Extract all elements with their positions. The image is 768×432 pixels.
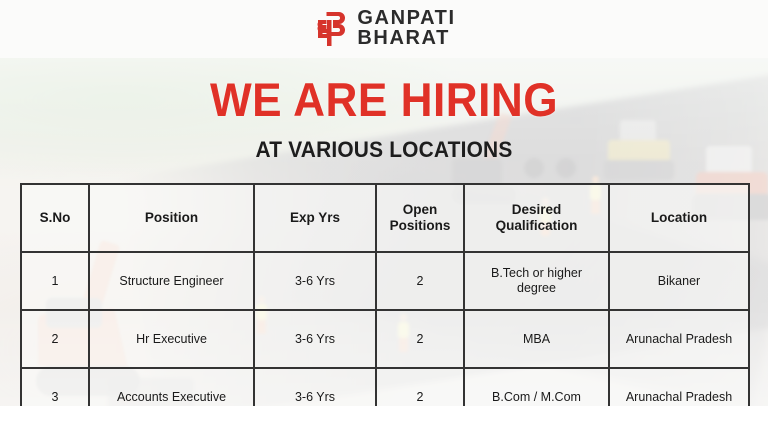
- cell-location: Bikaner: [609, 252, 749, 310]
- brand-header: GANPATI BHARAT: [0, 0, 768, 58]
- cell-position: Hr Executive: [89, 310, 254, 368]
- column-header-qual-line2: Qualification: [496, 218, 578, 233]
- bottom-strip: [0, 406, 768, 432]
- column-header-qual-line1: Desired: [512, 202, 562, 217]
- gb-monogram-icon: [312, 10, 346, 48]
- column-header-open-positions: Open Positions: [376, 184, 464, 252]
- cell-exp: 3-6 Yrs: [254, 252, 376, 310]
- cell-qualification: B.Tech or higher degree: [464, 252, 609, 310]
- cell-exp: 3-6 Yrs: [254, 310, 376, 368]
- jobs-table-container: S.No Position Exp Yrs Open Positions Des…: [20, 183, 748, 427]
- brand-name: GANPATI BHARAT: [357, 9, 455, 48]
- headings-block: WE ARE HIRING AT VARIOUS LOCATIONS: [0, 58, 768, 161]
- column-header-exp: Exp Yrs: [254, 184, 376, 252]
- cell-open-positions: 2: [376, 252, 464, 310]
- column-header-open-line1: Open: [403, 202, 438, 217]
- jobs-table-head: S.No Position Exp Yrs Open Positions Des…: [21, 184, 749, 252]
- cell-sno: 1: [21, 252, 89, 310]
- cell-position: Structure Engineer: [89, 252, 254, 310]
- column-header-location: Location: [609, 184, 749, 252]
- cell-sno: 2: [21, 310, 89, 368]
- table-row: 1 Structure Engineer 3-6 Yrs 2 B.Tech or…: [21, 252, 749, 310]
- column-header-position: Position: [89, 184, 254, 252]
- cell-location: Arunachal Pradesh: [609, 310, 749, 368]
- cell-qualification: MBA: [464, 310, 609, 368]
- page-subtitle: AT VARIOUS LOCATIONS: [19, 139, 749, 161]
- brand-logo: GANPATI BHARAT: [312, 9, 455, 48]
- jobs-table: S.No Position Exp Yrs Open Positions Des…: [20, 183, 750, 427]
- column-header-open-line2: Positions: [390, 218, 451, 233]
- brand-name-line2: BHARAT: [357, 29, 455, 49]
- table-row: 2 Hr Executive 3-6 Yrs 2 MBA Arunachal P…: [21, 310, 749, 368]
- table-header-row: S.No Position Exp Yrs Open Positions Des…: [21, 184, 749, 252]
- hiring-poster: GANPATI BHARAT WE ARE HIRING AT VARIOUS …: [0, 0, 768, 432]
- jobs-table-body: 1 Structure Engineer 3-6 Yrs 2 B.Tech or…: [21, 252, 749, 426]
- cell-open-positions: 2: [376, 310, 464, 368]
- column-header-sno: S.No: [21, 184, 89, 252]
- page-title: WE ARE HIRING: [23, 76, 745, 123]
- column-header-qualification: Desired Qualification: [464, 184, 609, 252]
